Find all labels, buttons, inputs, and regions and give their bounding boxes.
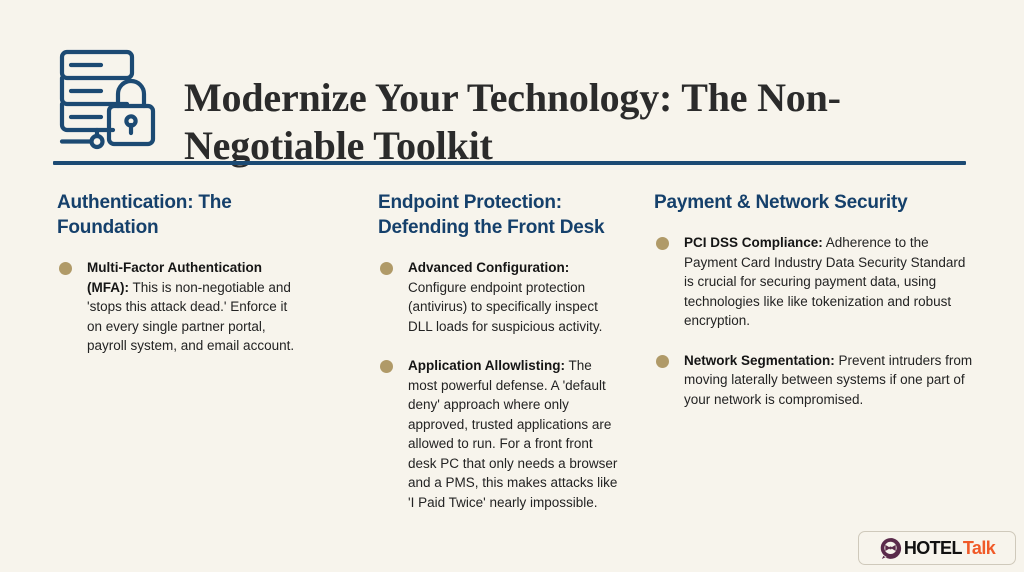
list-item: Network Segmentation: Prevent intruders … (654, 351, 974, 410)
list-item: PCI DSS Compliance: Adherence to the Pay… (654, 233, 974, 331)
bullet-term: PCI DSS Compliance: (684, 235, 823, 250)
logo-text-talk: Talk (963, 538, 995, 559)
column-endpoint-protection: Endpoint Protection: Defending the Front… (320, 190, 640, 530)
page-title: Modernize Your Technology: The Non-Negot… (184, 74, 944, 170)
bullet-dot-icon (656, 355, 669, 368)
bullet-description: The most powerful defense. A 'default de… (408, 358, 617, 510)
list-item: Advanced Configuration: Configure endpoi… (378, 258, 624, 336)
list-item: Multi-Factor Authentication (MFA): This … (57, 258, 296, 356)
list-item: Application Allowlisting: The most power… (378, 356, 624, 512)
bullet-term: Network Segmentation: (684, 353, 835, 368)
logo-text-hotel: HOTEL (904, 538, 962, 559)
header-divider (53, 161, 966, 165)
bullet-dot-icon (656, 237, 669, 250)
column-heading: Payment & Network Security (654, 190, 974, 215)
bullet-dot-icon (380, 360, 393, 373)
bullet-list: Multi-Factor Authentication (MFA): This … (57, 258, 296, 356)
bullet-description: Configure endpoint protection (antivirus… (408, 280, 602, 334)
bullet-term: Advanced Configuration: (408, 260, 569, 275)
bullet-dot-icon (380, 262, 393, 275)
column-payment-network-security: Payment & Network Security PCI DSS Compl… (640, 190, 1024, 530)
hoteltalk-bowtie-bubble-icon (879, 537, 902, 560)
logo-content: HOTELTalk (879, 537, 995, 560)
bullet-term: Application Allowlisting: (408, 358, 565, 373)
bullet-list: Advanced Configuration: Configure endpoi… (378, 258, 624, 512)
server-stack-with-padlock-icon (53, 44, 161, 152)
bullet-list: PCI DSS Compliance: Adherence to the Pay… (654, 233, 974, 409)
column-heading: Endpoint Protection: Defending the Front… (378, 190, 624, 240)
column-authentication: Authentication: The Foundation Multi-Fac… (0, 190, 320, 530)
bullet-dot-icon (59, 262, 72, 275)
content-columns: Authentication: The Foundation Multi-Fac… (0, 190, 1024, 530)
hoteltalk-logo: HOTELTalk (858, 531, 1016, 565)
column-heading: Authentication: The Foundation (57, 190, 296, 240)
header: Modernize Your Technology: The Non-Negot… (0, 0, 1024, 166)
